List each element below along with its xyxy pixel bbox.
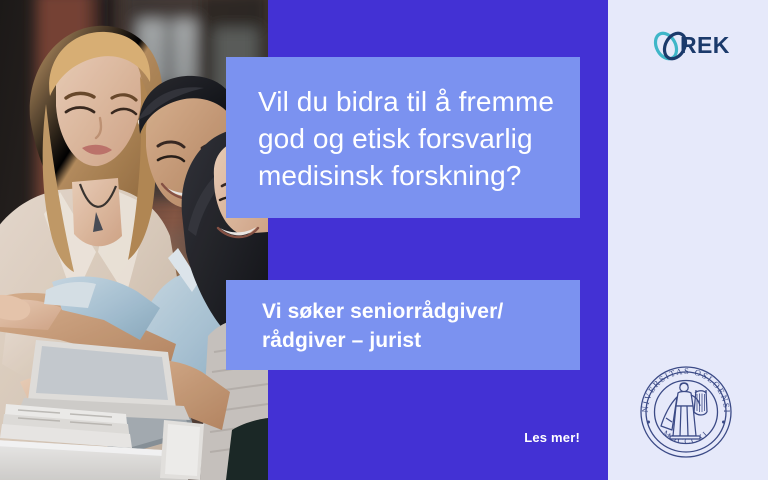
recruitment-banner: Vil du bidra til å fremme god og etisk f… bbox=[0, 0, 768, 480]
rek-wordmark: REK bbox=[680, 32, 730, 59]
headline-line-2: god og etisk forsvarlig bbox=[258, 120, 550, 157]
read-more-link[interactable]: Les mer! bbox=[380, 430, 580, 445]
rek-logo[interactable]: REK bbox=[650, 24, 738, 68]
headline-line-3: medisinsk forskning? bbox=[258, 157, 550, 194]
uio-seal-illustration: UNIVERSITAS OSLOENSIS MDCCCXI bbox=[634, 360, 738, 464]
headline-card: Vil du bidra til å fremme god og etisk f… bbox=[226, 57, 580, 218]
uio-seal: UNIVERSITAS OSLOENSIS MDCCCXI bbox=[634, 360, 738, 464]
job-title-card: Vi søker seniorrådgiver/ rådgiver – juri… bbox=[226, 280, 580, 370]
job-title-line-2: rådgiver – jurist bbox=[262, 326, 550, 355]
job-title-line-1: Vi søker seniorrådgiver/ bbox=[262, 297, 550, 326]
headline-line-1: Vil du bidra til å fremme bbox=[258, 83, 550, 120]
